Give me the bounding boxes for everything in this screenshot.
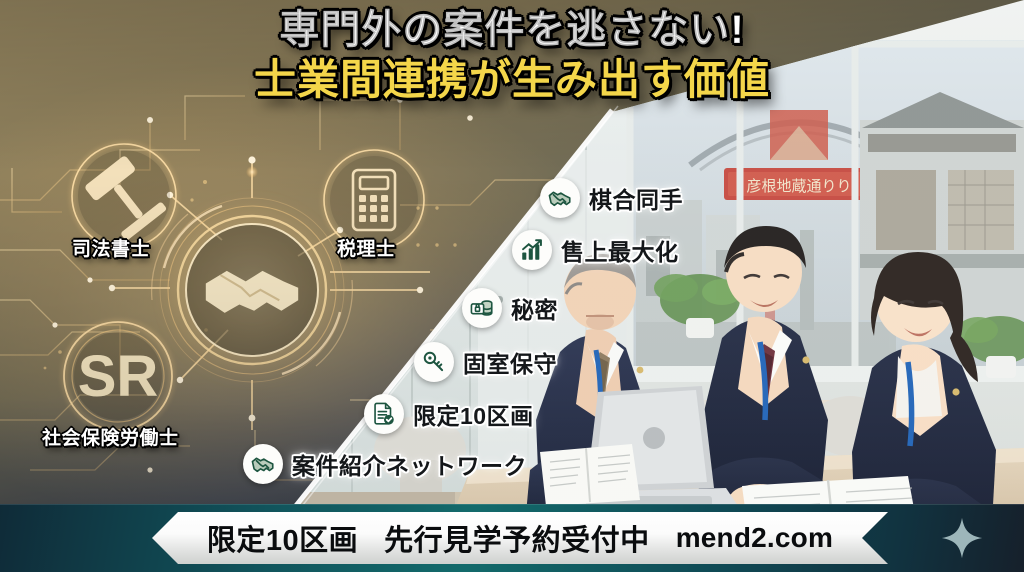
headline-line-2: 士業間連携が生み出す価値 bbox=[0, 56, 1024, 104]
sr-node-text: SR bbox=[78, 344, 159, 409]
node-label-labor-consultant: 社会保険労働士 bbox=[42, 423, 179, 450]
handshake-icon bbox=[243, 444, 283, 484]
banner-creative: SR 司法書士 税理士 社会保険労働 bbox=[0, 0, 1024, 572]
feature-row-4: 限定10区画 bbox=[364, 394, 534, 434]
node-label-tax-accountant: 税理士 bbox=[337, 234, 396, 261]
key-icon bbox=[414, 342, 454, 382]
cta-url-label[interactable]: mend2.com bbox=[676, 522, 833, 554]
sparkle-icon bbox=[940, 516, 984, 560]
feature-label-4: 限定10区画 bbox=[413, 397, 534, 431]
cta-limited-label: 限定10区画 bbox=[207, 517, 358, 559]
feature-row-3: 固室保守 bbox=[414, 342, 557, 382]
feature-label-3: 固室保守 bbox=[463, 345, 557, 379]
feature-label-1: 售上最大化 bbox=[561, 233, 679, 267]
feature-label-5: 案件紹介ネットワーク bbox=[292, 447, 527, 481]
feature-row-1: 售上最大化 bbox=[512, 230, 679, 270]
headline-line-1: 専門外の案件を逃さない! bbox=[0, 8, 1024, 53]
money-lock-icon bbox=[462, 288, 502, 328]
cta-ribbon[interactable]: 限定10区画 先行見学予約受付中 mend2.com bbox=[152, 512, 888, 564]
feature-label-2: 秘密 bbox=[511, 291, 558, 325]
feature-row-5: 案件紹介ネットワーク bbox=[243, 444, 527, 484]
feature-label-0: 棋合同手 bbox=[589, 181, 683, 215]
sr-node-graphic: SR bbox=[64, 322, 172, 430]
document-check-icon bbox=[364, 394, 404, 434]
central-handshake-hub-graphic bbox=[152, 194, 353, 386]
node-label-judicial-scrivener: 司法書士 bbox=[72, 234, 150, 261]
growth-chart-icon bbox=[512, 230, 552, 270]
gavel-node-graphic bbox=[72, 144, 176, 248]
handshake-icon bbox=[540, 178, 580, 218]
feature-row-2: 秘密 bbox=[462, 288, 558, 328]
headline-block: 専門外の案件を逃さない! 士業間連携が生み出す価値 bbox=[0, 8, 1024, 104]
cta-reservation-label: 先行見学予約受付中 bbox=[384, 517, 650, 559]
feature-row-0: 棋合同手 bbox=[540, 178, 683, 218]
